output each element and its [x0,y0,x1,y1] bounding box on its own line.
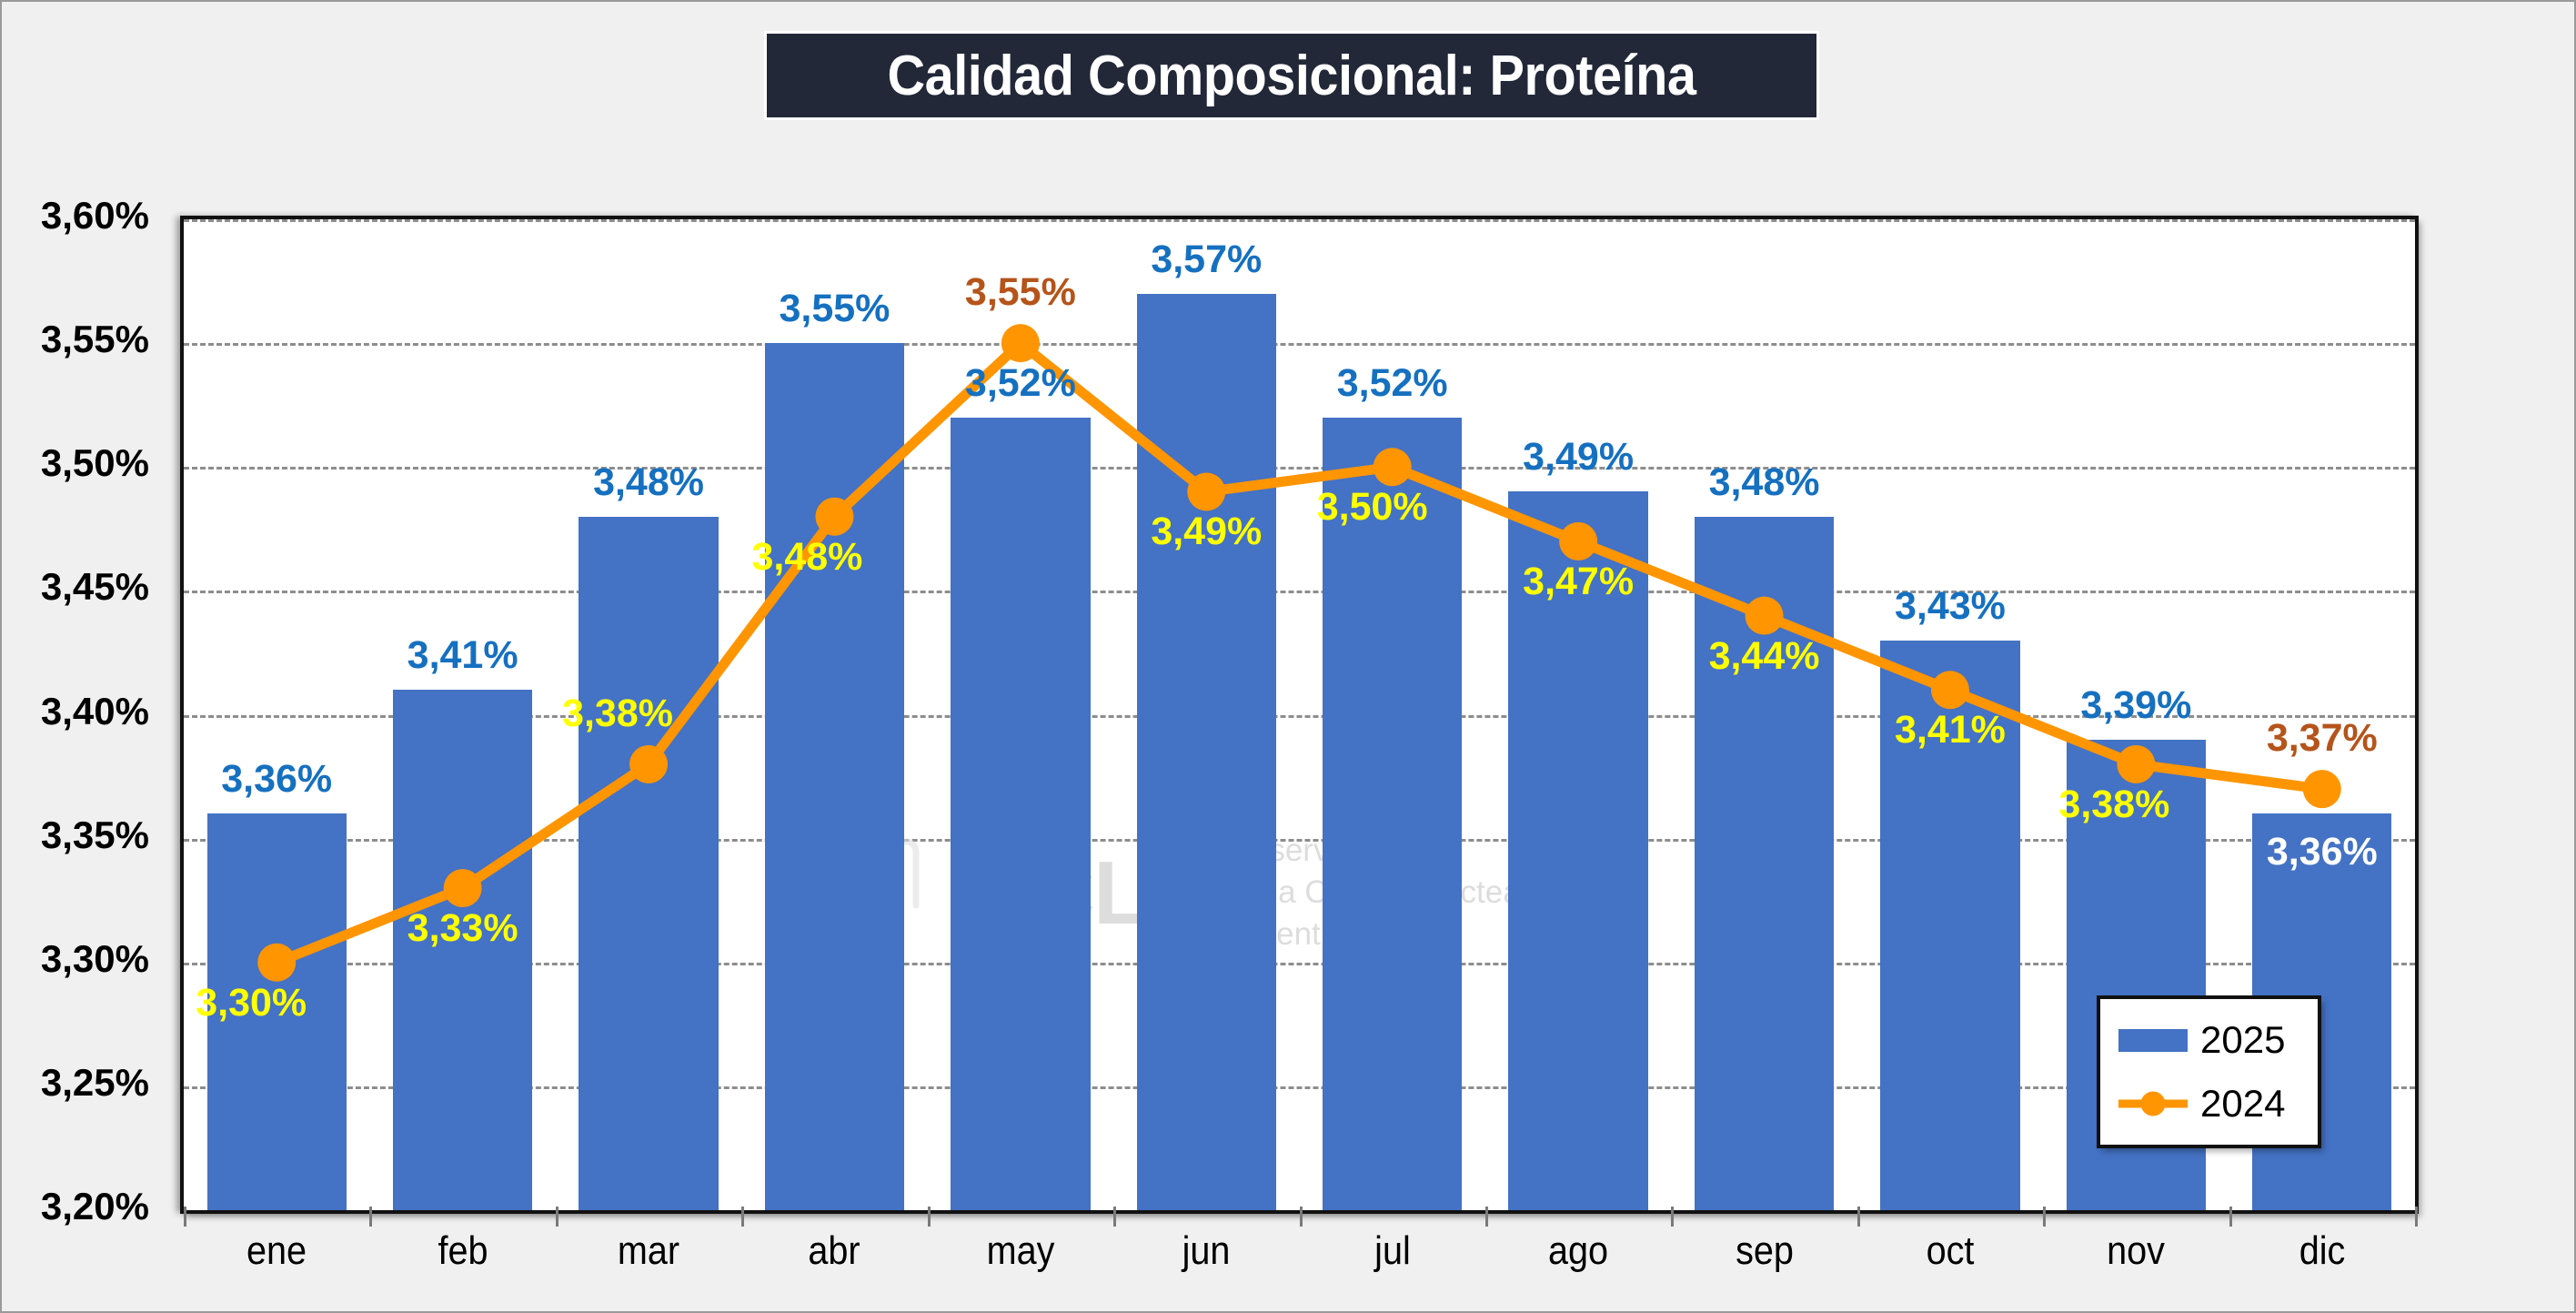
chart-window: Calidad Composicional: Proteína 3,60%3,5… [0,0,2576,1313]
legend[interactable]: 2025 2024 [2097,995,2321,1148]
bar-data-label: 3,36% [2267,830,2378,874]
x-tick-mark [369,1207,372,1227]
x-tick-label: mar [618,1228,679,1274]
x-tick-label: feb [438,1228,488,1274]
x-tick-mark [556,1207,558,1227]
y-tick-label: 3,25% [41,1061,149,1105]
x-tick-label: sep [1736,1228,1794,1274]
x-tick-label: nov [2107,1228,2165,1274]
line-marker[interactable] [1001,324,1040,362]
line-marker[interactable] [815,498,853,536]
line-data-label: 3,37% [2267,716,2378,761]
x-axis: enefebmarabrmayjunjulagosepoctnovdic [180,1228,2419,1292]
y-tick-label: 3,30% [41,937,149,981]
bar-data-label: 3,48% [593,460,704,505]
x-tick-label: jun [1182,1228,1231,1274]
line-marker[interactable] [1931,671,1969,709]
y-tick-label: 3,50% [41,441,149,485]
bar-data-label: 3,52% [965,361,1076,406]
bar-data-label: 3,41% [408,633,518,678]
x-tick-mark [1300,1207,1303,1227]
x-tick-mark [741,1207,744,1227]
chart-title-box: Calidad Composicional: Proteína [764,31,1819,120]
line-marker[interactable] [1559,522,1597,561]
line-data-label: 3,50% [1317,485,1428,530]
page-title: Calidad Composicional: Proteína [887,44,1696,108]
y-tick-label: 3,60% [41,194,149,237]
plot-inner: OCLA Observatorio de la Cadena Láctea Ar… [184,219,2415,1210]
bar-data-label: 3,48% [1709,460,1820,505]
legend-item-2025[interactable]: 2025 [2100,1021,2318,1059]
line-data-label: 3,30% [196,981,307,1025]
x-tick-label: oct [1927,1228,1975,1274]
line-marker[interactable] [444,869,482,907]
bar-data-label: 3,52% [1337,361,1448,406]
y-tick-label: 3,35% [41,813,149,857]
x-tick-mark [1857,1207,1860,1227]
line-data-label: 3,33% [408,906,518,951]
legend-line-swatch-icon [2118,1091,2188,1116]
x-tick-mark [2043,1207,2046,1227]
y-tick-label: 3,45% [41,565,149,609]
x-tick-label: dic [2299,1228,2345,1274]
line-marker[interactable] [1746,597,1784,635]
bar-data-label: 3,43% [1895,584,2006,629]
y-tick-label: 3,20% [41,1185,149,1228]
y-axis: 3,60%3,55%3,50%3,45%3,40%3,35%3,30%3,25%… [2,197,162,1217]
x-tick-mark [2229,1207,2232,1227]
legend-bar-swatch-icon [2118,1029,2188,1052]
line-marker[interactable] [629,745,668,783]
line-marker[interactable] [257,944,296,982]
legend-item-2024[interactable]: 2024 [2100,1085,2318,1123]
bar-data-label: 3,49% [1523,435,1634,480]
x-tick-mark [1671,1207,1674,1227]
line-marker[interactable] [2303,770,2341,808]
line-data-label: 3,38% [2058,783,2169,827]
y-tick-label: 3,40% [41,690,149,733]
line-data-label: 3,38% [562,692,673,736]
line-marker[interactable] [1374,448,1412,486]
bar-data-label: 3,36% [221,757,332,802]
legend-label-2024: 2024 [2200,1085,2285,1123]
x-tick-mark [1113,1207,1116,1227]
x-tick-mark [928,1207,931,1227]
line-data-label: 3,49% [1151,510,1262,554]
line-marker[interactable] [2117,745,2155,783]
line-path [277,343,2322,963]
x-tick-mark [1485,1207,1488,1227]
y-tick-label: 3,55% [41,318,149,361]
x-tick-label: ago [1548,1228,1608,1274]
line-data-label: 3,48% [751,535,862,580]
legend-label-2025: 2025 [2200,1021,2285,1059]
x-tick-mark [2415,1207,2418,1227]
bar-data-label: 3,57% [1151,237,1262,282]
line-data-label: 3,44% [1709,634,1820,679]
line-marker[interactable] [1187,472,1225,510]
line-data-label: 3,41% [1895,708,2006,752]
line-data-label: 3,47% [1523,560,1634,604]
plot-area: OCLA Observatorio de la Cadena Láctea Ar… [180,216,2419,1214]
line-data-label: 3,55% [965,270,1076,315]
x-tick-label: abr [809,1228,860,1274]
bar-data-label: 3,55% [779,287,890,331]
x-tick-label: may [986,1228,1054,1274]
x-tick-label: jul [1374,1228,1411,1274]
bar-data-label: 3,39% [2080,683,2191,728]
x-tick-mark [184,1207,186,1227]
x-tick-label: ene [247,1228,307,1274]
